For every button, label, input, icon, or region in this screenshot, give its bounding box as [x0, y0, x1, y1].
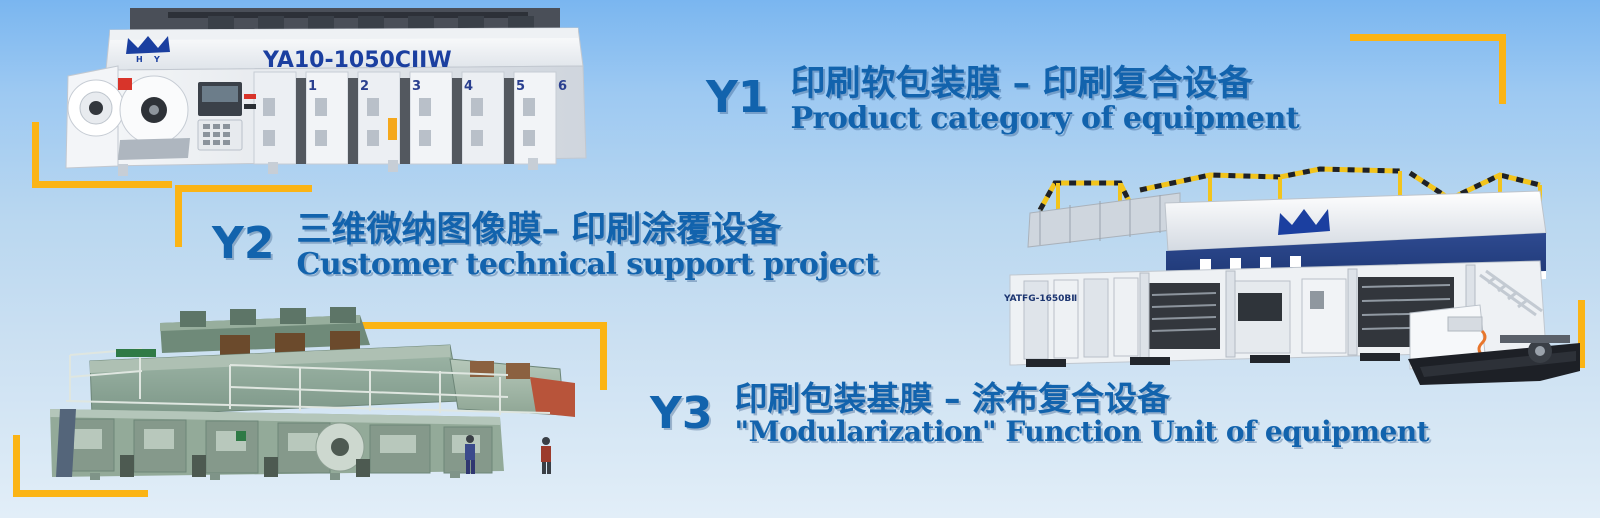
entry-y2-english: Customer technical support project [296, 249, 878, 281]
entry-y1-chinese: 印刷软包装膜 – 印刷复合设备 [790, 66, 1299, 103]
svg-text:1: 1 [308, 79, 317, 94]
entry-y1: Y1 印刷软包装膜 – 印刷复合设备 Product category of e… [706, 66, 1299, 135]
product-category-banner: H Y 123 456 YA10-1050CIIW [0, 0, 1600, 518]
machine-model-label-2: YATFG-1650BⅡ [1003, 294, 1077, 304]
entry-y1-english: Product category of equipment [790, 103, 1299, 135]
svg-text:4: 4 [464, 79, 473, 94]
svg-text:H: H [136, 55, 143, 64]
svg-text:Y: Y [153, 55, 160, 64]
bracket-topright-vertical [1499, 34, 1506, 104]
svg-text:5: 5 [516, 79, 525, 94]
bracket-bottomleft-vertical [13, 435, 20, 497]
printing-press-illustration: H Y 123 456 [58, 8, 603, 183]
entry-y2: Y2 三维微纳图像膜– 印刷涂覆设备 Customer technical su… [212, 212, 878, 281]
bracket-lowermid-vertical [600, 322, 607, 390]
bracket-middle-vertical [175, 185, 182, 247]
entry-y3-english: "Modularization" Function Unit of equipm… [734, 417, 1429, 446]
bracket-topright-horizontal [1350, 34, 1506, 41]
machine-coating-laminating: YATFG-1650BⅡ [980, 155, 1580, 395]
entry-y3-chinese: 印刷包装基膜 – 涂布复合设备 [734, 382, 1429, 417]
entry-y3: Y3 印刷包装基膜 – 涂布复合设备 "Modularization" Func… [650, 382, 1429, 446]
bracket-topleft-vertical [32, 122, 39, 188]
machine-model-label-1: YA10-1050CIIW [263, 48, 452, 73]
svg-text:3: 3 [412, 79, 421, 94]
entry-y3-code: Y3 [650, 392, 712, 436]
entry-y2-chinese: 三维微纳图像膜– 印刷涂覆设备 [296, 212, 878, 249]
machine-rotogravure-printing-press: H Y 123 456 YA10-1050CIIW [58, 8, 603, 183]
worker-figure [465, 435, 475, 474]
machine-base-film-line [30, 305, 575, 480]
bracket-middle-horizontal [175, 185, 312, 192]
svg-text:2: 2 [360, 79, 369, 94]
coating-machine-illustration: YATFG-1650BⅡ [980, 155, 1580, 395]
worker-figure-2 [541, 437, 551, 474]
entry-y1-code: Y1 [706, 76, 768, 120]
base-film-line-illustration [30, 305, 575, 480]
entry-y2-code: Y2 [212, 222, 274, 266]
svg-text:6: 6 [558, 79, 567, 94]
bracket-bottomleft-horizontal [13, 490, 148, 497]
